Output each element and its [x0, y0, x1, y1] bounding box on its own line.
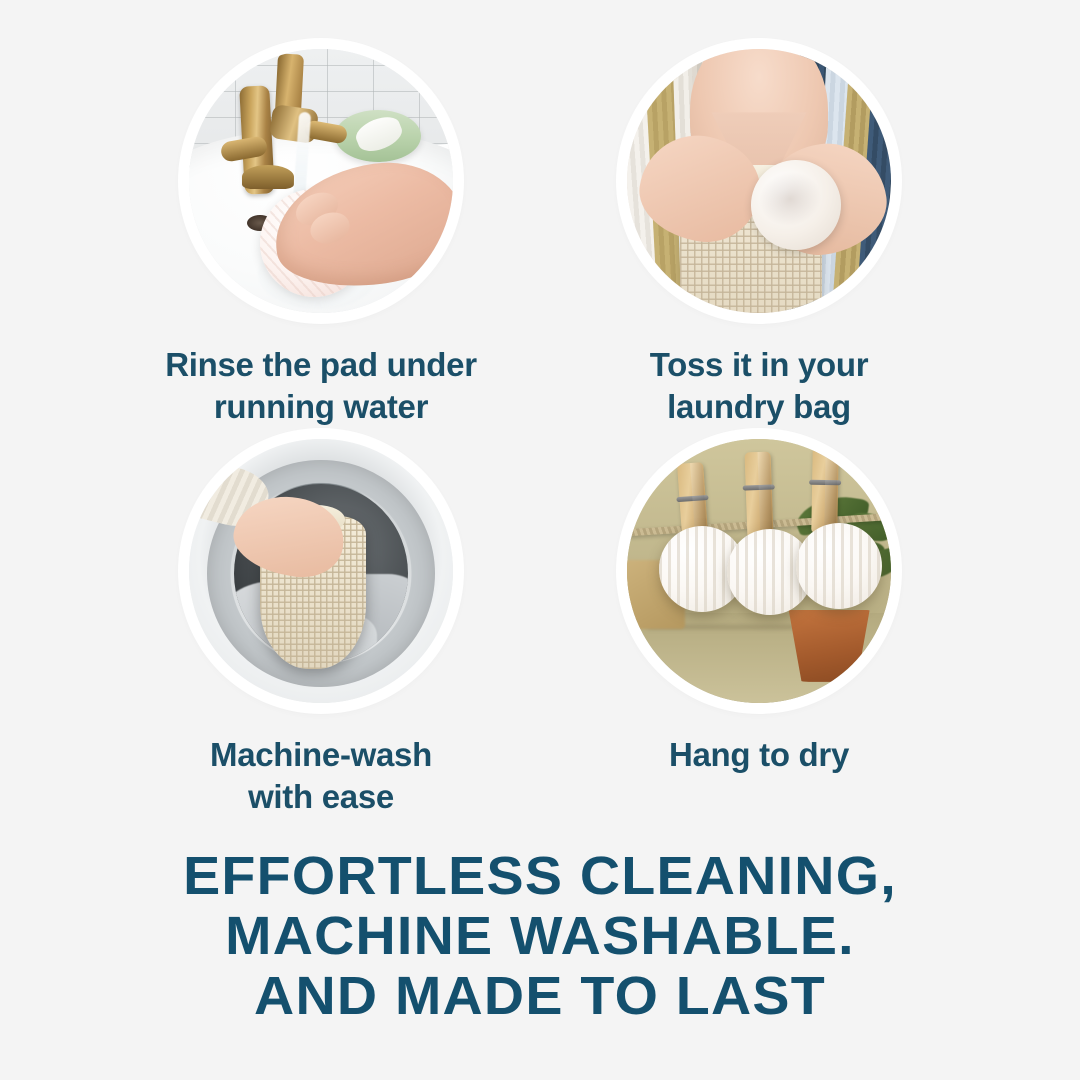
photo-frame-machine-wash — [182, 432, 460, 710]
infographic-canvas: Rinse the pad under running water — [0, 0, 1080, 1080]
caption-line: Machine-wash — [151, 734, 491, 776]
headline-line-1: EFFORTLESS CLEANING, — [0, 846, 1080, 906]
headline-line-3: AND MADE TO LAST — [0, 966, 1080, 1026]
faucet-base — [242, 165, 294, 189]
step-card-machine-wash: Machine-wash with ease — [151, 432, 491, 817]
caption-line: laundry bag — [589, 386, 929, 428]
step-card-rinse: Rinse the pad under running water — [151, 42, 491, 427]
wooden-clothespin — [744, 452, 773, 539]
wooden-clothespin — [811, 447, 838, 533]
pad-into-mesh-laundry-bag-photo — [627, 49, 891, 313]
photo-frame-toss — [620, 42, 898, 320]
green-soap-dish — [335, 110, 421, 162]
headline-line-2: MACHINE WASHABLE. — [0, 906, 1080, 966]
step-card-toss: Toss it in your laundry bag — [589, 42, 929, 427]
caption-line: Rinse the pad under — [151, 344, 491, 386]
photo-frame-hang-dry — [620, 432, 898, 710]
step-card-hang-dry: Hang to dry — [589, 432, 929, 776]
rinsing-pad-under-faucet-photo — [189, 49, 453, 313]
pads-hanging-on-clothesline-photo — [627, 439, 891, 703]
caption-line: Toss it in your — [589, 344, 929, 386]
mesh-bag-into-washing-machine-photo — [189, 439, 453, 703]
step-caption-machine-wash: Machine-wash with ease — [151, 734, 491, 817]
headline: EFFORTLESS CLEANING, MACHINE WASHABLE. A… — [0, 846, 1080, 1027]
caption-line: Hang to dry — [589, 734, 929, 776]
caption-line: with ease — [151, 776, 491, 818]
photo-frame-rinse — [182, 42, 460, 320]
step-caption-rinse: Rinse the pad under running water — [151, 344, 491, 427]
caption-line: running water — [151, 386, 491, 428]
reusable-pad — [796, 523, 882, 609]
step-caption-toss: Toss it in your laundry bag — [589, 344, 929, 427]
step-caption-hang-dry: Hang to dry — [589, 734, 929, 776]
